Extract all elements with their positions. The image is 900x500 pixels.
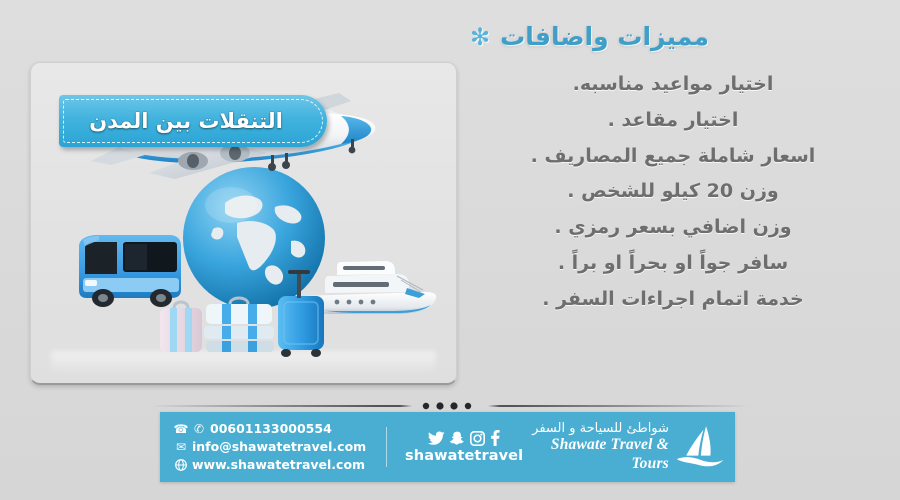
twitter-icon[interactable] [428, 431, 445, 446]
features-heading-text: مميزات واضافات [500, 22, 709, 51]
phone-number[interactable]: 00601133000554 [210, 420, 332, 438]
telephone-icon: ☎ [174, 423, 188, 436]
logo-arabic-name: شواطئ للسياحة و السفر [531, 421, 669, 437]
website-line: www.shawatetravel.com [174, 456, 366, 474]
footer-divider-1 [386, 427, 387, 467]
asterisk-icon: ✻ [470, 25, 490, 49]
instagram-icon[interactable] [470, 431, 485, 446]
envelope-icon: ✉ [174, 441, 188, 454]
social-icon-row [405, 430, 523, 446]
luggage-icon [156, 268, 331, 358]
banner-tab: التنقلات بين المدن [59, 95, 327, 147]
logo-text: شواطئ للسياحة و السفر Shawate Travel & T… [531, 421, 669, 474]
contact-block: ☎ ✆ 00601133000554 ✉ info@shawatetravel.… [160, 420, 376, 473]
list-item: اختيار مقاعد . [470, 103, 890, 139]
facebook-icon[interactable] [490, 430, 500, 446]
travel-visual-panel: التنقلات بين المدن [30, 62, 457, 385]
list-item: وزن 20 كيلو للشخص . [470, 174, 890, 210]
list-item: اسعار شاملة جميع المصاريف . [470, 139, 890, 175]
list-item: اختيار مواعيد مناسبه. [470, 67, 890, 103]
phone-line: ☎ ✆ 00601133000554 [174, 420, 366, 438]
social-handle: shawatetravel [405, 448, 523, 464]
sailboat-icon [675, 421, 725, 473]
whatsapp-icon: ✆ [192, 423, 206, 436]
banner-label: التنقلات بين المدن [59, 95, 313, 147]
social-block: shawatetravel [397, 430, 531, 464]
globe-small-icon [174, 458, 188, 471]
list-item: سافر جواً او بحراً او براً . [470, 246, 890, 282]
website-url[interactable]: www.shawatetravel.com [192, 456, 365, 474]
company-logo: شواطئ للسياحة و السفر Shawate Travel & T… [531, 421, 735, 474]
email-line: ✉ info@shawatetravel.com [174, 438, 366, 456]
email-address[interactable]: info@shawatetravel.com [192, 438, 366, 456]
logo-english-name: Shawate Travel & Tours [531, 436, 669, 473]
features-heading: مميزات واضافات ✻ [470, 22, 880, 51]
list-item: خدمة اتمام اجراءات السفر . [470, 282, 890, 318]
advertisement-root: التنقلات بين المدن مميزات واضافات ✻ اختي… [0, 0, 900, 500]
features-section: مميزات واضافات ✻ اختيار مواعيد مناسبه. ا… [470, 8, 890, 317]
list-item: وزن اضافي بسعر رمزي . [470, 210, 890, 246]
decorative-divider [150, 400, 750, 412]
snapchat-icon[interactable] [450, 431, 465, 446]
feature-list: اختيار مواعيد مناسبه. اختيار مقاعد . اسع… [470, 67, 890, 317]
footer-bar: ☎ ✆ 00601133000554 ✉ info@shawatetravel.… [160, 412, 735, 482]
